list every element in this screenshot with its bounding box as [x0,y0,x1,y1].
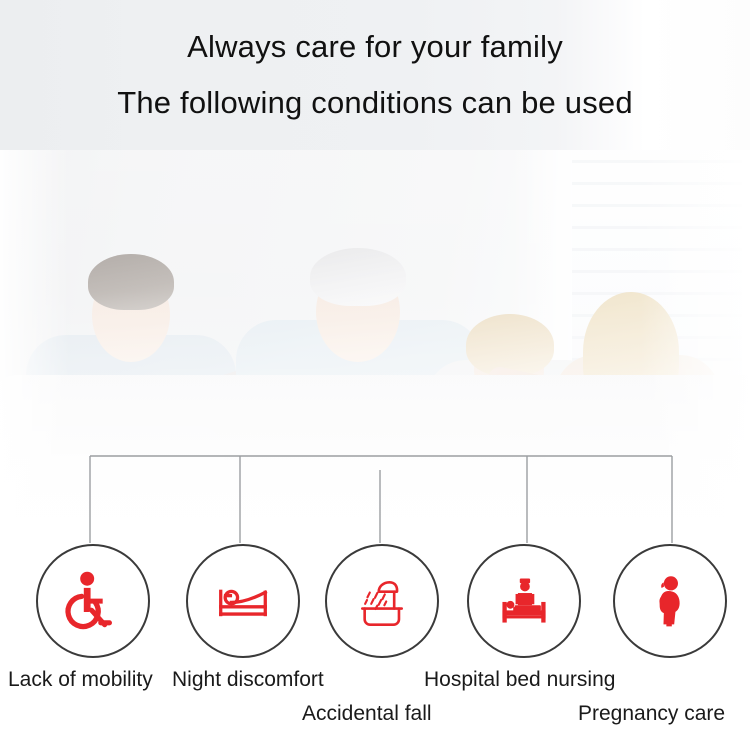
condition-circle-hospital-bed-nursing[interactable] [467,544,581,658]
condition-circle-accidental-fall[interactable] [325,544,439,658]
condition-icons [0,0,750,750]
caption-night-discomfort: Night discomfort [172,668,324,692]
condition-circle-pregnancy-care[interactable] [613,544,727,658]
care-conditions-banner: Always care for your family The followin… [0,0,750,750]
condition-circle-lack-of-mobility[interactable] [36,544,150,658]
condition-circle-night-discomfort[interactable] [186,544,300,658]
caption-hospital-bed-nursing: Hospital bed nursing [424,668,615,692]
shower-bathtub-icon [352,571,412,631]
caption-lack-of-mobility: Lack of mobility [8,668,153,692]
pregnant-woman-icon [641,572,699,630]
caption-pregnancy-care: Pregnancy care [578,702,725,726]
wheelchair-icon [62,570,124,632]
nurse-bedside-icon [494,571,554,631]
caption-accidental-fall: Accidental fall [302,702,432,726]
bed-person-icon [212,570,274,632]
